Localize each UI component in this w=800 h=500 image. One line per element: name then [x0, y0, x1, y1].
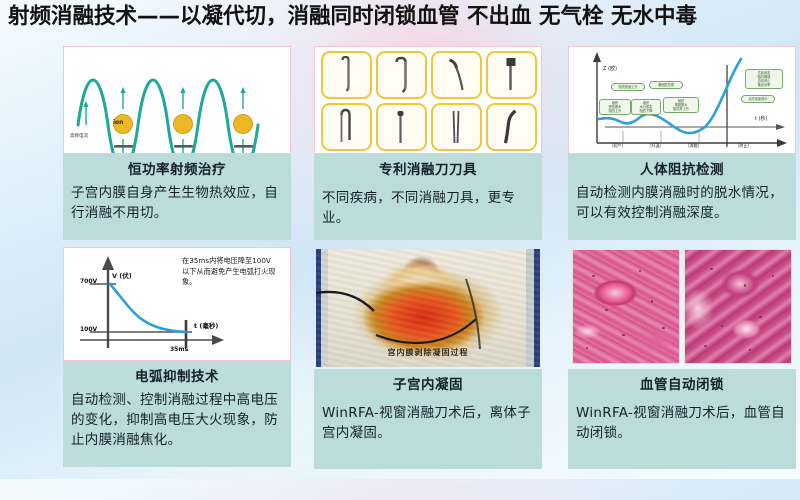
- impedance-phase-tick: （消融）: [685, 143, 702, 149]
- caption-title: 血管自动闭锁: [576, 375, 788, 395]
- impedance-phase-tick: （初产）: [609, 143, 626, 149]
- histology-images: [572, 249, 792, 364]
- ion-particle-group: [114, 115, 253, 134]
- caption-body: 不同疾病，不同消融刀具，更专业。: [322, 188, 534, 228]
- tool-cell: [321, 51, 372, 99]
- clinical-photo-image: 宫内膜剥除凝固过程: [316, 249, 540, 367]
- caption-body: 自动检测内膜消融时的脱水情况，可以有效控制消融深度。: [576, 183, 788, 223]
- voltage-xtick: 35ms: [170, 346, 188, 353]
- page-title: 射频消融技术——以凝代切，消融同时闭锁血管 不出血 无气栓 无水中毒: [8, 2, 798, 32]
- tool-cell: [486, 103, 537, 151]
- ion-wave-diagram: ion 高频电流: [63, 46, 291, 154]
- caption-title: 恒功率射频治疗: [71, 160, 283, 180]
- impedance-annotation: 治疗结束提示: [741, 95, 775, 103]
- card-caption: 恒功率射频治疗 子宫内膜自身产生生物热效应，自行消融不用切。: [63, 154, 291, 240]
- impedance-annotation: 阻抗快速上升: [611, 83, 645, 91]
- card-intrauterine-coagulation: 宫内膜剥除凝固过程 子宫内凝固 WinRFA-视窗消融刀术后，离体子宫内凝固。: [314, 247, 542, 469]
- card-body-impedance-detection: Z (欧) t (秒) （初产） （升温） （消融） （终止） 组织 受热脱水 …: [568, 46, 796, 240]
- ion-wave-svg: [64, 47, 290, 153]
- caption-title: 子宫内凝固: [322, 375, 534, 395]
- clinical-photo: 宫内膜剥除凝固过程: [314, 247, 542, 369]
- impedance-annotation: 组织 水分蒸发 阻抗下降: [631, 99, 661, 115]
- caption-body: 自动检测、控制消融过程中高电压的变化，抑制高电压大火现象，防止内膜消融焦化。: [71, 390, 283, 450]
- histology-pair: [568, 247, 796, 369]
- tool-grid: [321, 51, 537, 151]
- caption-body: 子宫内膜自身产生生物热效应，自行消融不用切。: [71, 183, 283, 223]
- impedance-y-axis-label: Z (欧): [603, 65, 617, 72]
- impedance-annotation: 组织 受热脱水 阻抗上升: [599, 99, 631, 115]
- histology-image-left: [572, 249, 680, 364]
- tool-grid-image: [314, 46, 542, 154]
- card-constant-power-rf: ion 高频电流 恒功率射频治疗 子宫内膜自身产生生物热效应，自行消融不用切。: [63, 46, 291, 240]
- impedance-annotation: 凝固层形成: [649, 81, 683, 89]
- tool-cell: [486, 51, 537, 99]
- impedance-chart: Z (欧) t (秒) （初产） （升温） （消融） （终止） 组织 受热脱水 …: [568, 46, 796, 154]
- tool-cell: [431, 103, 482, 151]
- card-vessel-auto-sealing: 血管自动闭锁 WinRFA-视窗消融刀术后，血管自动闭锁。: [568, 247, 796, 469]
- card-caption: 血管自动闭锁 WinRFA-视窗消融刀术后，血管自动闭锁。: [568, 369, 796, 469]
- card-caption: 子宫内凝固 WinRFA-视窗消融刀术后，离体子宫内凝固。: [314, 369, 542, 469]
- voltage-ytick-low: 100V: [80, 326, 97, 333]
- caption-title: 人体阻抗检测: [576, 160, 788, 180]
- card-arc-suppression: V (伏) t (毫秒) 700V 100V 35ms 在35ms内将电压降至1…: [63, 247, 291, 467]
- caption-title: 专利消融刀刀具: [322, 160, 534, 180]
- card-caption: 人体阻抗检测 自动检测内膜消融时的脱水情况，可以有效控制消融深度。: [568, 154, 796, 240]
- impedance-phase-tick: （升温）: [647, 143, 664, 149]
- caption-body: WinRFA-视窗消融刀术后，离体子宫内凝固。: [322, 403, 534, 443]
- voltage-chart-note: 在35ms内将电压降至100V以下从而避免产生电弧打火现象。: [182, 256, 278, 288]
- photo-overlay-caption: 宫内膜剥除凝固过程: [388, 347, 469, 358]
- tool-cell: [376, 51, 427, 99]
- histology-image-right: [684, 249, 792, 364]
- voltage-decay-chart: V (伏) t (毫秒) 700V 100V 35ms 在35ms内将电压降至1…: [63, 247, 291, 361]
- feature-card-grid: ion 高频电流 恒功率射频治疗 子宫内膜自身产生生物热效应，自行消融不用切。: [0, 40, 800, 479]
- ion-particle-label: ion: [113, 119, 123, 126]
- card-caption: 电弧抑制技术 自动检测、控制消融过程中高电压的变化，抑制高电压大火现象，防止内膜…: [63, 361, 291, 467]
- caption-title: 电弧抑制技术: [71, 367, 283, 387]
- voltage-ytick-high: 700V: [80, 278, 97, 285]
- tool-cell: [376, 103, 427, 151]
- impedance-annotation: 组织 凝固脱水 阻抗再上升: [663, 97, 699, 113]
- voltage-y-axis-label: V (伏): [112, 270, 132, 280]
- wave-axis-label: 高频电流: [70, 133, 88, 139]
- card-caption: 专利消融刀刀具 不同疾病，不同消融刀具，更专业。: [314, 154, 542, 240]
- impedance-x-axis-label: t (秒): [755, 115, 767, 122]
- tool-cell: [321, 103, 372, 151]
- impedance-phase-tick: （终止）: [735, 143, 752, 149]
- card-patent-ablation-blades: 专利消融刀刀具 不同疾病，不同消融刀具，更专业。: [314, 46, 542, 240]
- tool-cell: [431, 51, 482, 99]
- voltage-x-axis-label: t (毫秒): [194, 320, 218, 330]
- impedance-annotation: 达到设定 阻抗阈值 自动停止 输出功率: [745, 69, 783, 89]
- caption-body: WinRFA-视窗消融刀术后，血管自动闭锁。: [576, 403, 788, 443]
